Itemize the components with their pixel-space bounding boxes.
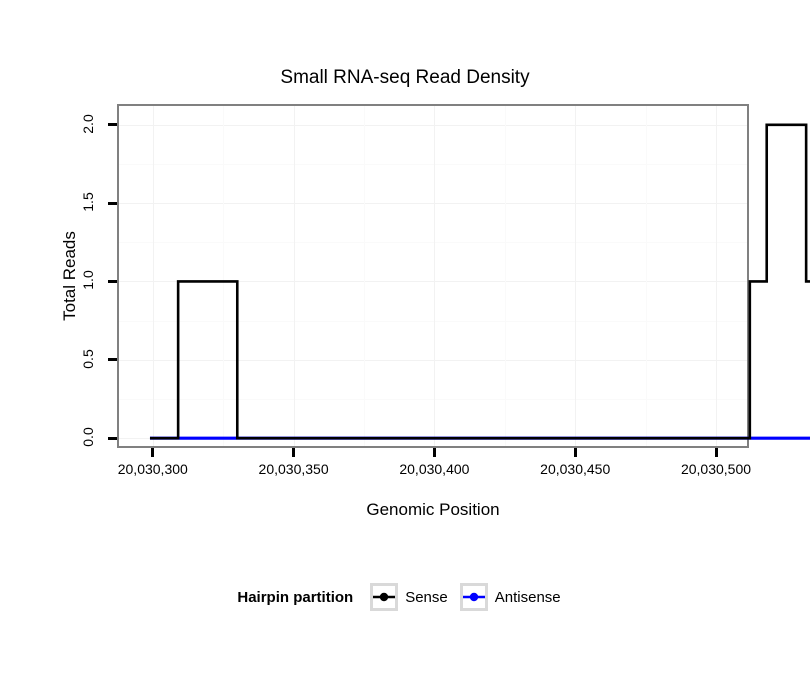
x-tick-mark: [715, 448, 718, 457]
chart-title: Small RNA-seq Read Density: [0, 67, 810, 89]
legend-entry-antisense[interactable]: Antisense: [460, 583, 561, 611]
legend-label: Antisense: [495, 589, 561, 606]
x-tick-label: 20,030,400: [354, 461, 514, 477]
x-tick-mark: [574, 448, 577, 457]
x-tick-label: 20,030,450: [495, 461, 655, 477]
series-sense-line: [150, 125, 810, 438]
legend-key-icon: [370, 583, 398, 611]
legend: Hairpin partition SenseAntisense: [0, 583, 810, 611]
x-axis-title: Genomic Position: [117, 500, 749, 520]
line-point-icon: [373, 587, 395, 607]
legend-entries: SenseAntisense: [370, 583, 572, 611]
legend-key-icon: [460, 583, 488, 611]
x-tick-mark: [151, 448, 154, 457]
y-tick-mark: [108, 123, 117, 126]
plot-panel: [117, 104, 749, 448]
y-axis-title: Total Reads: [60, 216, 80, 336]
line-point-icon: [463, 587, 485, 607]
y-tick-label: 2.0: [80, 104, 96, 144]
data-layer: [119, 106, 747, 446]
x-tick-mark: [292, 448, 295, 457]
y-tick-mark: [108, 202, 117, 205]
legend-label: Sense: [405, 589, 448, 606]
y-tick-mark: [108, 280, 117, 283]
legend-title: Hairpin partition: [237, 589, 353, 606]
y-tick-label: 0.5: [80, 339, 96, 379]
y-tick-label: 1.0: [80, 260, 96, 300]
x-tick-label: 20,030,500: [636, 461, 796, 477]
x-tick-mark: [433, 448, 436, 457]
y-tick-label: 0.0: [80, 417, 96, 457]
legend-entry-sense[interactable]: Sense: [370, 583, 448, 611]
y-tick-mark: [108, 358, 117, 361]
y-tick-label: 1.5: [80, 182, 96, 222]
x-tick-label: 20,030,300: [73, 461, 233, 477]
x-tick-label: 20,030,350: [214, 461, 374, 477]
chart-figure: Small RNA-seq Read Density Total Reads 0…: [0, 0, 810, 690]
y-tick-mark: [108, 437, 117, 440]
